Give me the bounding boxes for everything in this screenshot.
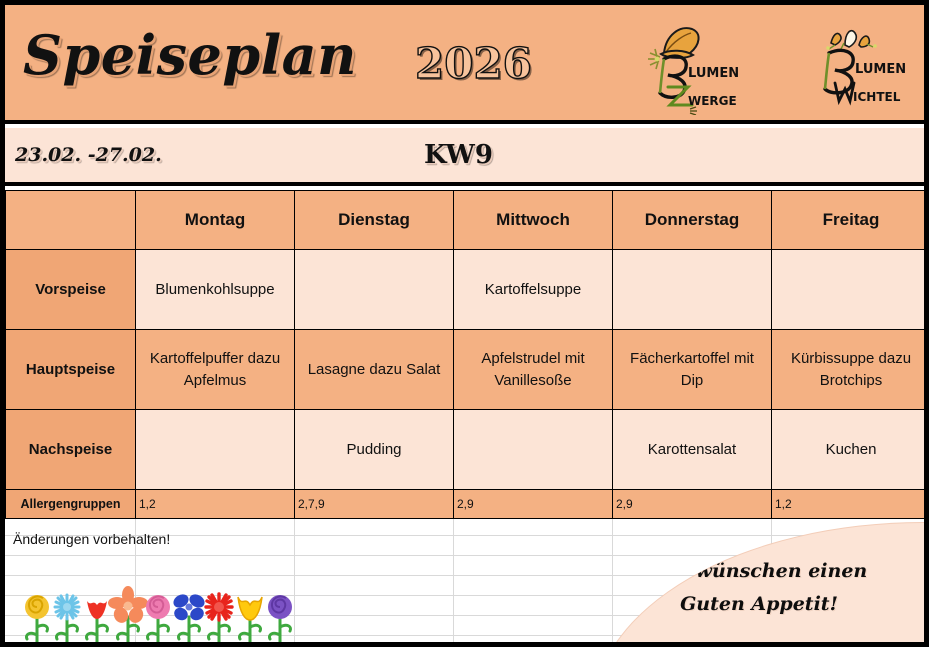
cell-allergen-mittwoch: 2,9 — [454, 490, 613, 519]
cell-allergen-donnerstag: 2,9 — [613, 490, 772, 519]
table-row-vorspeise: Vorspeise Blumenkohlsuppe Kartoffelsuppe — [6, 250, 929, 330]
cell-nachspeise-montag — [136, 410, 295, 490]
cell-allergen-freitag: 1,2 — [772, 490, 929, 519]
cell-nachspeise-dienstag: Pudding — [295, 410, 454, 490]
cell-vorspeise-mittwoch: Kartoffelsuppe — [454, 250, 613, 330]
page-title: Speiseplan — [23, 23, 357, 87]
table-row-hauptspeise: Hauptspeise Kartoffelpuffer dazu Apfelmu… — [6, 330, 929, 410]
svg-text:LUMEN: LUMEN — [855, 62, 906, 77]
cell-hauptspeise-mittwoch: Apfelstrudel mit Vanillesoße — [454, 330, 613, 410]
year-label: 2026 — [415, 39, 532, 88]
cell-vorspeise-dienstag — [295, 250, 454, 330]
date-band: 23.02. -27.02. KW9 — [5, 128, 924, 186]
cell-vorspeise-donnerstag — [613, 250, 772, 330]
cell-hauptspeise-donnerstag: Fächerkartoffel mit Dip — [613, 330, 772, 410]
row-label-hauptspeise: Hauptspeise — [6, 330, 136, 410]
date-range-label: 23.02. -27.02. — [15, 144, 162, 166]
cell-vorspeise-montag: Blumenkohlsuppe — [136, 250, 295, 330]
day-header-donnerstag: Donnerstag — [613, 191, 772, 250]
cell-nachspeise-donnerstag: Karottensalat — [613, 410, 772, 490]
guten-appetit-blob: Wir wünschen einen Guten Appetit! — [593, 522, 929, 647]
cell-nachspeise-freitag: Kuchen — [772, 410, 929, 490]
menu-table: Montag Dienstag Mittwoch Donnerstag Frei… — [5, 190, 929, 519]
appetit-line-2: Guten Appetit! — [680, 593, 838, 615]
svg-text:LUMEN: LUMEN — [688, 66, 739, 81]
flower-row-decoration — [19, 577, 309, 647]
calendar-week-label: KW9 — [424, 140, 493, 170]
cell-vorspeise-freitag — [772, 250, 929, 330]
blumen-zwerge-logo: LUMEN WERGE — [630, 19, 750, 115]
cell-allergen-dienstag: 2,7,9 — [295, 490, 454, 519]
title-banner: Speiseplan 2026 — [5, 5, 924, 124]
appetit-line-1: Wir wünschen einen — [651, 560, 867, 582]
row-label-allergengruppen: Allergengruppen — [6, 490, 136, 519]
table-header-row: Montag Dienstag Mittwoch Donnerstag Frei… — [6, 191, 929, 250]
row-label-vorspeise: Vorspeise — [6, 250, 136, 330]
cell-nachspeise-mittwoch — [454, 410, 613, 490]
svg-text:WERGE: WERGE — [688, 94, 737, 108]
guten-appetit-text: Wir wünschen einen Guten Appetit! — [594, 555, 924, 622]
disclaimer-note: Änderungen vorbehalten! — [13, 531, 170, 547]
blumen-wichtel-logo: LUMEN ICHTEL — [795, 19, 915, 115]
day-header-dienstag: Dienstag — [295, 191, 454, 250]
svg-text:ICHTEL: ICHTEL — [853, 90, 901, 104]
cell-hauptspeise-freitag: Kürbissuppe dazu Brotchips — [772, 330, 929, 410]
cell-hauptspeise-montag: Kartoffelpuffer dazu Apfelmus — [136, 330, 295, 410]
table-row-allergengruppen: Allergengruppen 1,2 2,7,9 2,9 2,9 1,2 — [6, 490, 929, 519]
day-header-freitag: Freitag — [772, 191, 929, 250]
table-row-nachspeise: Nachspeise Pudding Karottensalat Kuchen — [6, 410, 929, 490]
cell-allergen-montag: 1,2 — [136, 490, 295, 519]
row-label-nachspeise: Nachspeise — [6, 410, 136, 490]
cell-hauptspeise-dienstag: Lasagne dazu Salat — [295, 330, 454, 410]
corner-cell — [6, 191, 136, 250]
day-header-mittwoch: Mittwoch — [454, 191, 613, 250]
day-header-montag: Montag — [136, 191, 295, 250]
speiseplan-page: Speiseplan 2026 LUMEN WERGE — [0, 0, 929, 647]
